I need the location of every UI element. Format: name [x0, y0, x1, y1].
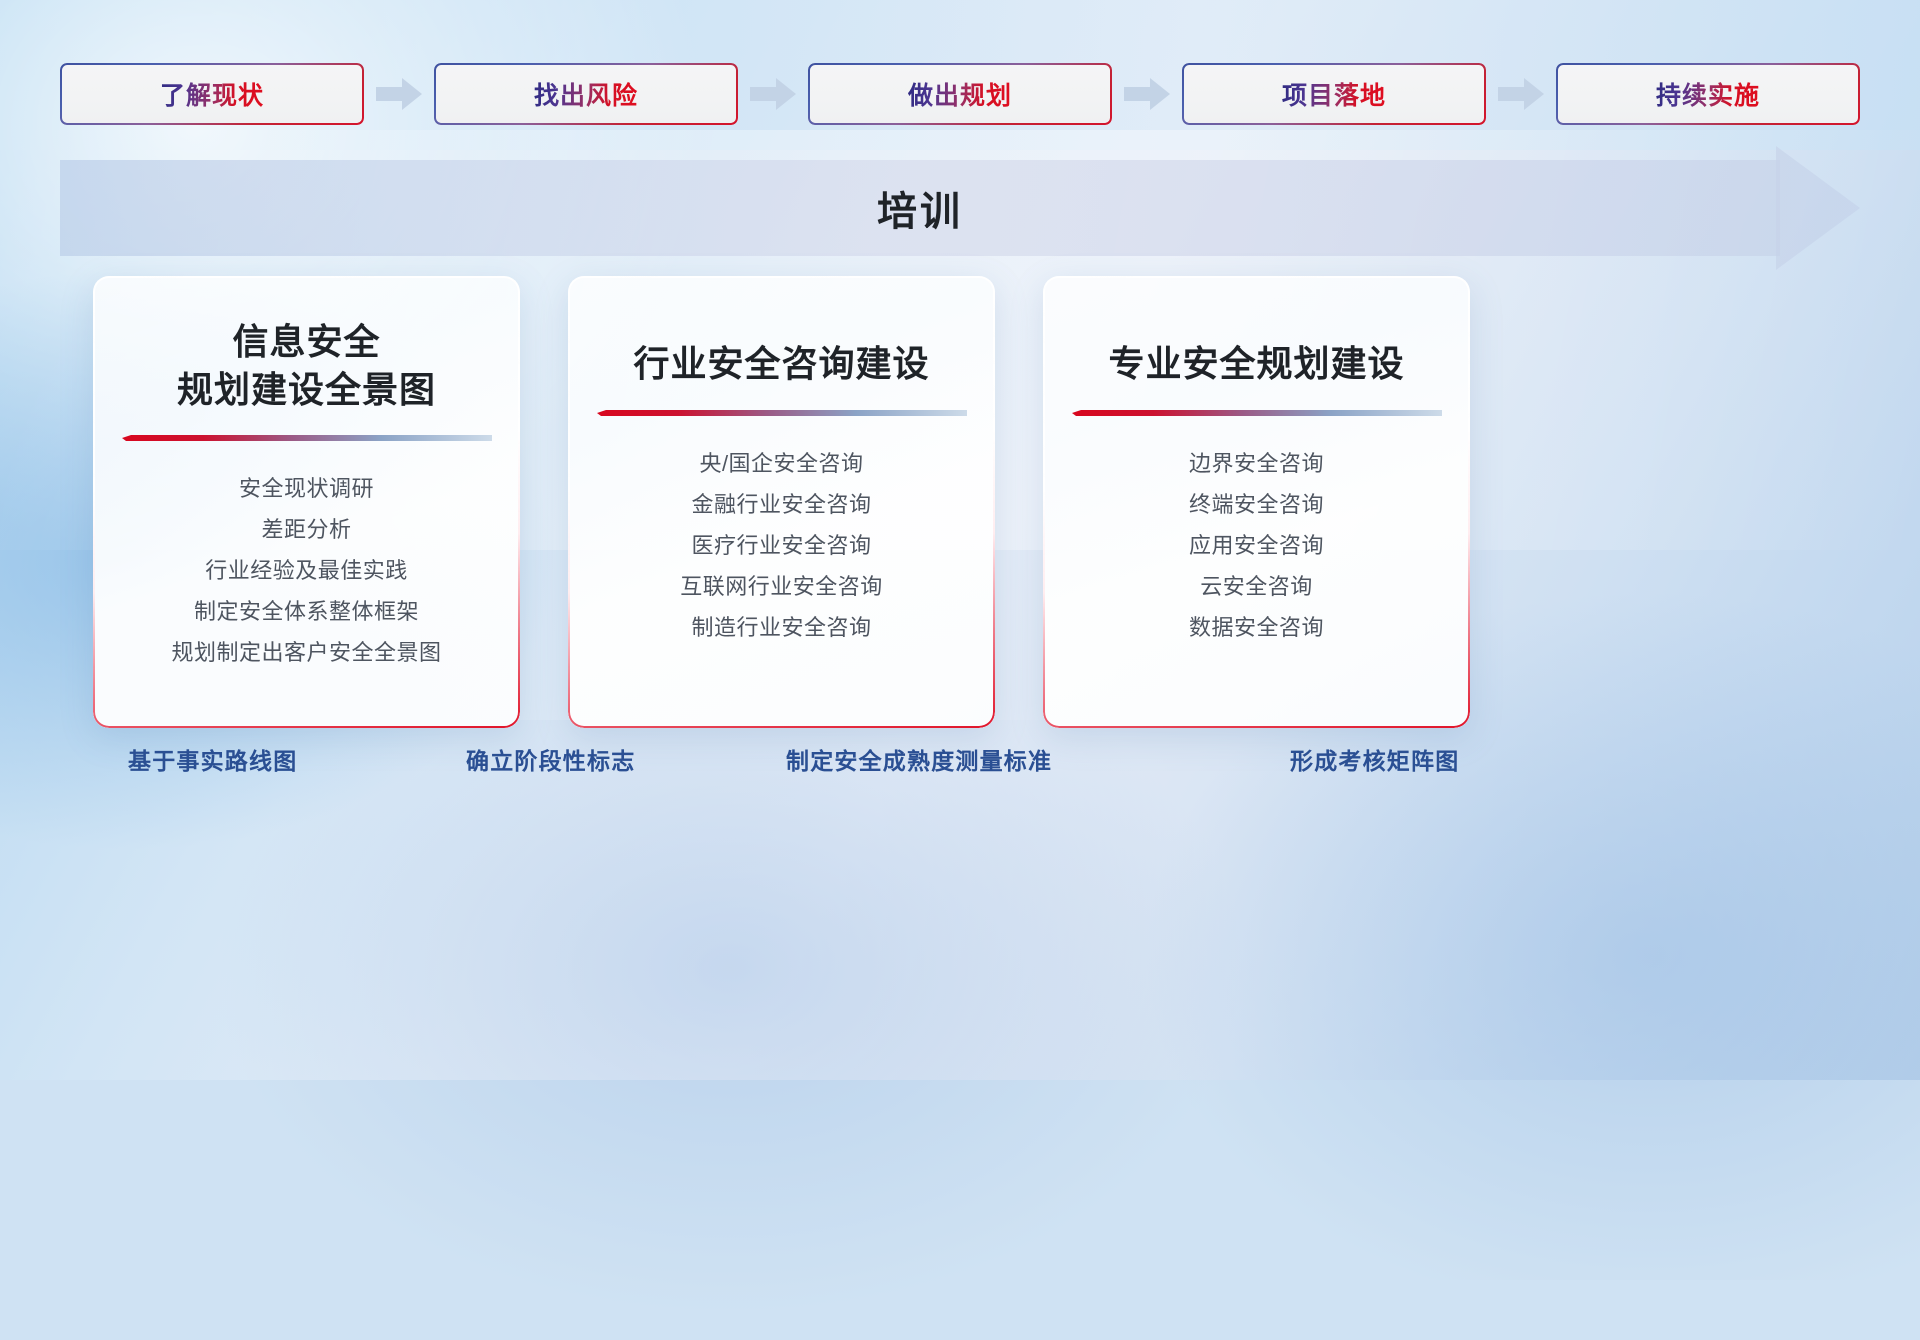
bottom-label-4: 形成考核矩阵图 [1290, 742, 1459, 776]
list-item: 终端安全咨询 [1189, 484, 1324, 525]
card-industry-security-consulting[interactable]: 行业安全咨询建设 央/国企安全咨询 [568, 276, 995, 728]
list-item: 制造行业安全咨询 [691, 607, 871, 648]
list-item: 云安全咨询 [1200, 566, 1313, 607]
bottom-label-1: 基于事实路线图 [128, 742, 297, 776]
card-information-security-blueprint[interactable]: 信息安全 规划建设全景图 安全现状调研 [93, 276, 520, 728]
bottom-label-3: 制定安全成熟度测量标准 [786, 742, 1052, 776]
card-list: 央/国企安全咨询 金融行业安全咨询 医疗行业安全咨询 互联网行业安全咨询 制造行… [594, 443, 969, 648]
chevron-right-arrow-icon-4 [1486, 63, 1556, 125]
list-item: 应用安全咨询 [1189, 525, 1324, 566]
card-list: 安全现状调研 差距分析 行业经验及最佳实践 制定安全体系整体框架 规划制定出客户… [119, 468, 494, 673]
card-list: 边界安全咨询 终端安全咨询 应用安全咨询 云安全咨询 数据安全咨询 [1069, 443, 1444, 648]
step-label: 项目落地 [1282, 76, 1386, 112]
list-item: 行业经验及最佳实践 [205, 550, 408, 591]
step-label: 持续实施 [1656, 76, 1760, 112]
list-item: 边界安全咨询 [1189, 443, 1324, 484]
step-box-2[interactable]: 找出风险 [434, 63, 738, 125]
training-banner-arrow-tip [1776, 146, 1860, 270]
training-banner: 培训 [60, 160, 1860, 256]
step-box-4[interactable]: 项目落地 [1182, 63, 1486, 125]
list-item: 央/国企安全咨询 [699, 443, 863, 484]
step-label: 做出规划 [908, 76, 1012, 112]
list-item: 安全现状调研 [239, 468, 374, 509]
step-box-1[interactable]: 了解现状 [60, 63, 364, 125]
card-divider [1072, 410, 1442, 421]
card-title: 信息安全 规划建设全景图 [177, 318, 436, 413]
card-professional-security-planning[interactable]: 专业安全规划建设 边界安全咨询 [1043, 276, 1470, 728]
bottom-label-row: 基于事实路线图 确立阶段性标志 制定安全成熟度测量标准 形成考核矩阵图 [0, 742, 1920, 802]
chevron-right-arrow-icon-3 [1112, 63, 1182, 125]
bottom-label-2: 确立阶段性标志 [466, 742, 635, 776]
list-item: 制定安全体系整体框架 [194, 591, 419, 632]
chevron-right-arrow-icon-2 [738, 63, 808, 125]
step-box-3[interactable]: 做出规划 [808, 63, 1112, 125]
list-item: 规划制定出客户安全全景图 [171, 632, 441, 673]
step-label: 了解现状 [160, 76, 264, 112]
step-label: 找出风险 [534, 76, 638, 112]
card-divider [122, 435, 492, 446]
card-title: 行业安全咨询建设 [633, 318, 929, 388]
training-banner-title: 培训 [60, 160, 1780, 256]
list-item: 互联网行业安全咨询 [680, 566, 883, 607]
list-item: 金融行业安全咨询 [691, 484, 871, 525]
card-divider [597, 410, 967, 421]
chevron-right-arrow-icon-1 [364, 63, 434, 125]
process-step-flow: 了解现状 找出风险 做出规划 项目落地 持续实施 [60, 63, 1860, 125]
list-item: 医疗行业安全咨询 [691, 525, 871, 566]
card-title: 专业安全规划建设 [1108, 318, 1404, 388]
list-item: 数据安全咨询 [1189, 607, 1324, 648]
card-row: 信息安全 规划建设全景图 安全现状调研 [0, 276, 1920, 728]
step-box-5[interactable]: 持续实施 [1556, 63, 1860, 125]
list-item: 差距分析 [261, 509, 351, 550]
